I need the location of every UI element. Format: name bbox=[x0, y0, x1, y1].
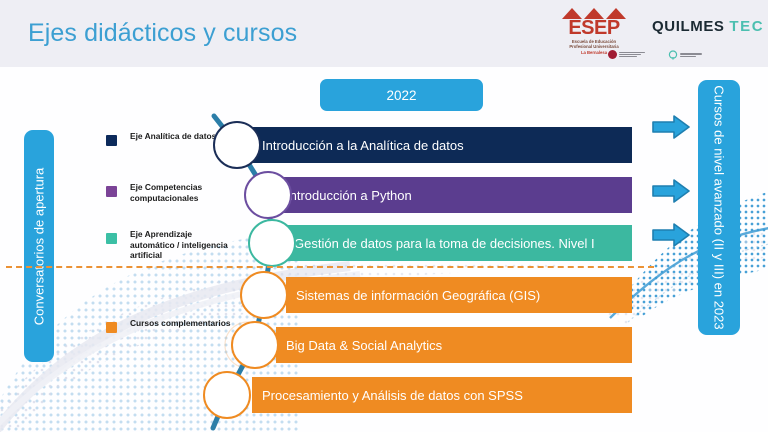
panel-right-label: Cursos de nivel avanzado (II y III) en 2… bbox=[711, 85, 728, 329]
course-label-5: Procesamiento y Análisis de datos con SP… bbox=[262, 388, 523, 403]
course-bar-4: Big Data & Social Analytics bbox=[276, 327, 632, 363]
course-node-5 bbox=[203, 371, 251, 419]
course-label-2: Gestión de datos para la toma de decisio… bbox=[294, 236, 595, 251]
unq-dot-icon bbox=[608, 50, 617, 59]
partner-logos bbox=[608, 48, 728, 65]
course-label-4: Big Data & Social Analytics bbox=[286, 338, 442, 353]
tec-word: TEC bbox=[729, 18, 764, 35]
panel-cursos-nivel-avanzado: Cursos de nivel avanzado (II y III) en 2… bbox=[698, 80, 740, 335]
quilmes-mini-logo bbox=[668, 50, 702, 60]
page-title: Ejes didácticos y cursos bbox=[28, 19, 297, 48]
legend-label-1: Eje Competencias computacionales bbox=[130, 182, 232, 203]
course-node-0 bbox=[213, 121, 261, 169]
legend-swatch-navy bbox=[106, 135, 117, 146]
course-node-3 bbox=[240, 271, 288, 319]
legend-swatch-orange bbox=[106, 322, 117, 333]
legend-label-3: Cursos complementarios bbox=[130, 318, 232, 329]
course-bar-3: Sistemas de información Geográfica (GIS) bbox=[286, 277, 632, 313]
quilmes-text-bars bbox=[680, 53, 702, 57]
section-divider bbox=[6, 266, 654, 268]
legend-swatch-purple bbox=[106, 186, 117, 197]
quilmes-tec-logo: QUILMES TEC bbox=[652, 18, 764, 35]
quilmes-word: QUILMES bbox=[652, 18, 725, 35]
course-bar-5: Procesamiento y Análisis de datos con SP… bbox=[252, 377, 632, 413]
legend-label-2: Eje Aprendizaje automático / inteligenci… bbox=[130, 229, 232, 261]
quilmes-mark-icon bbox=[668, 50, 678, 60]
right-arrow-icon-1 bbox=[652, 178, 690, 204]
course-label-1: Introducción a Python bbox=[286, 188, 412, 203]
course-bar-1: Introducción a Python bbox=[276, 177, 632, 213]
course-node-4 bbox=[231, 321, 279, 369]
unq-text-bars bbox=[619, 52, 645, 58]
course-label-3: Sistemas de información Geográfica (GIS) bbox=[296, 288, 540, 303]
right-arrow-icon-2 bbox=[652, 222, 690, 248]
esep-wordmark: ESEP bbox=[558, 17, 630, 40]
panel-conversatorios-de-apertura: Conversatorios de apertura bbox=[24, 130, 54, 362]
course-node-1 bbox=[244, 171, 292, 219]
right-arrow-icon-0 bbox=[652, 114, 690, 140]
course-label-0: Introducción a la Analítica de datos bbox=[262, 138, 464, 153]
panel-left-label: Conversatorios de apertura bbox=[32, 167, 47, 325]
slide-canvas: Ejes didácticos y cursos ESEP Escuela de… bbox=[0, 0, 768, 432]
legend-swatch-teal bbox=[106, 233, 117, 244]
course-node-2 bbox=[248, 219, 296, 267]
year-badge-label: 2022 bbox=[386, 88, 416, 103]
course-bar-0: Introducción a la Analítica de datos bbox=[252, 127, 632, 163]
year-badge: 2022 bbox=[320, 79, 483, 111]
unq-mini-logo bbox=[608, 50, 645, 59]
course-bar-2: Gestión de datos para la toma de decisio… bbox=[284, 225, 632, 261]
